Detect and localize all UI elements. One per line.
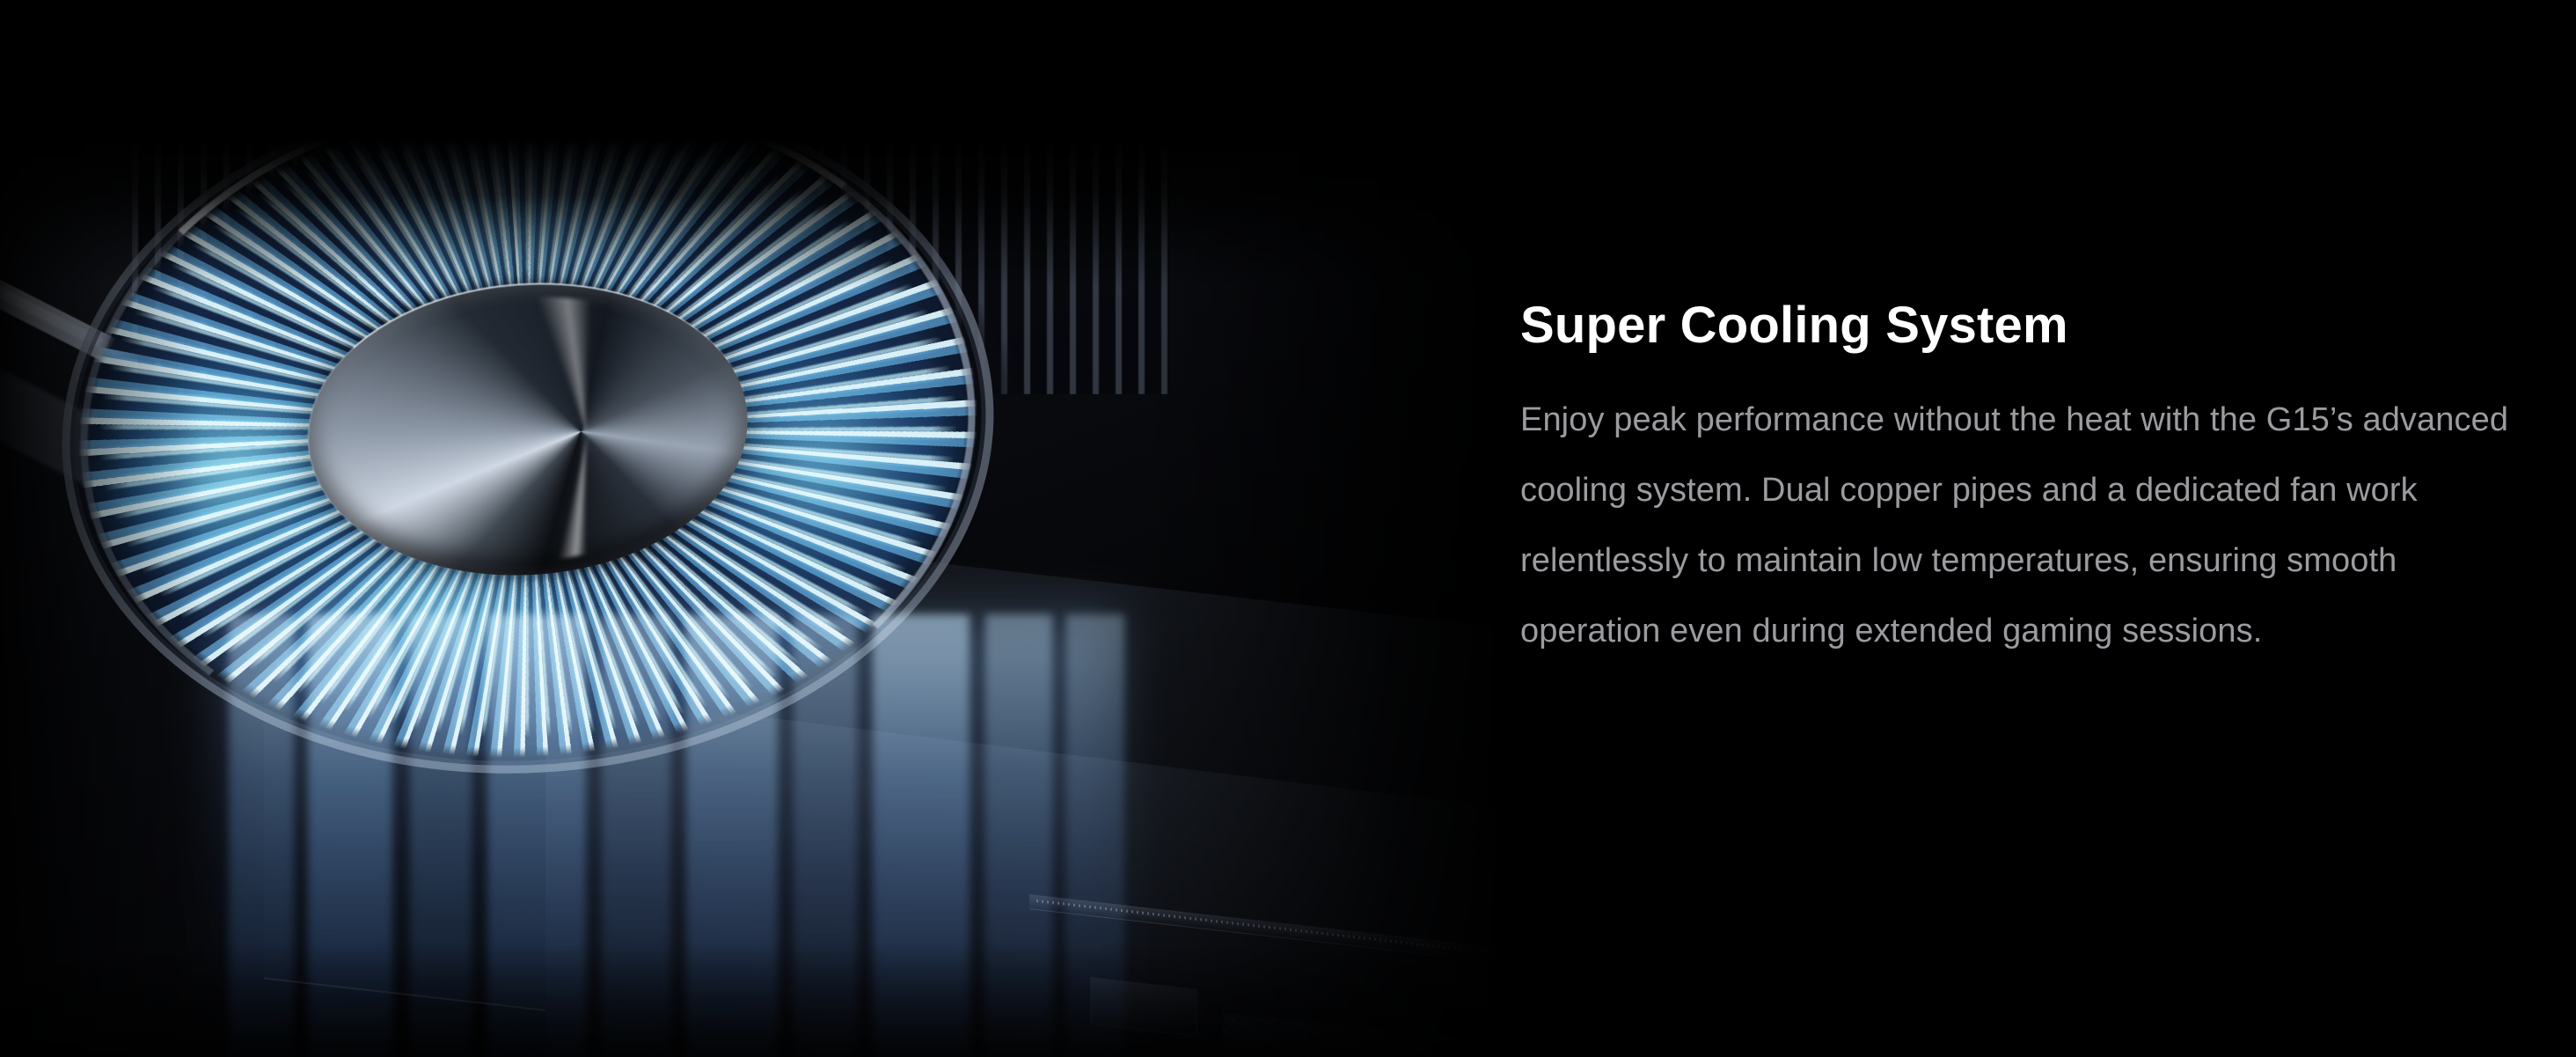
super-cooling-system-section: Super Cooling System Enjoy peak performa… <box>0 0 2576 1057</box>
photo-vignette-left <box>0 139 202 1057</box>
feature-copy-panel: Super Cooling System Enjoy peak performa… <box>1506 0 2576 1057</box>
cooling-fan-photo <box>0 139 1506 1057</box>
feature-description: Enjoy peak performance without the heat … <box>1520 385 2534 666</box>
copy-inner: Super Cooling System Enjoy peak performa… <box>1520 0 2534 666</box>
cooling-media-panel <box>0 0 1506 1057</box>
photo-vignette-right <box>1137 139 1506 1057</box>
feature-headline: Super Cooling System <box>1520 299 2534 353</box>
photo-vignette-bottom <box>0 943 1506 1057</box>
